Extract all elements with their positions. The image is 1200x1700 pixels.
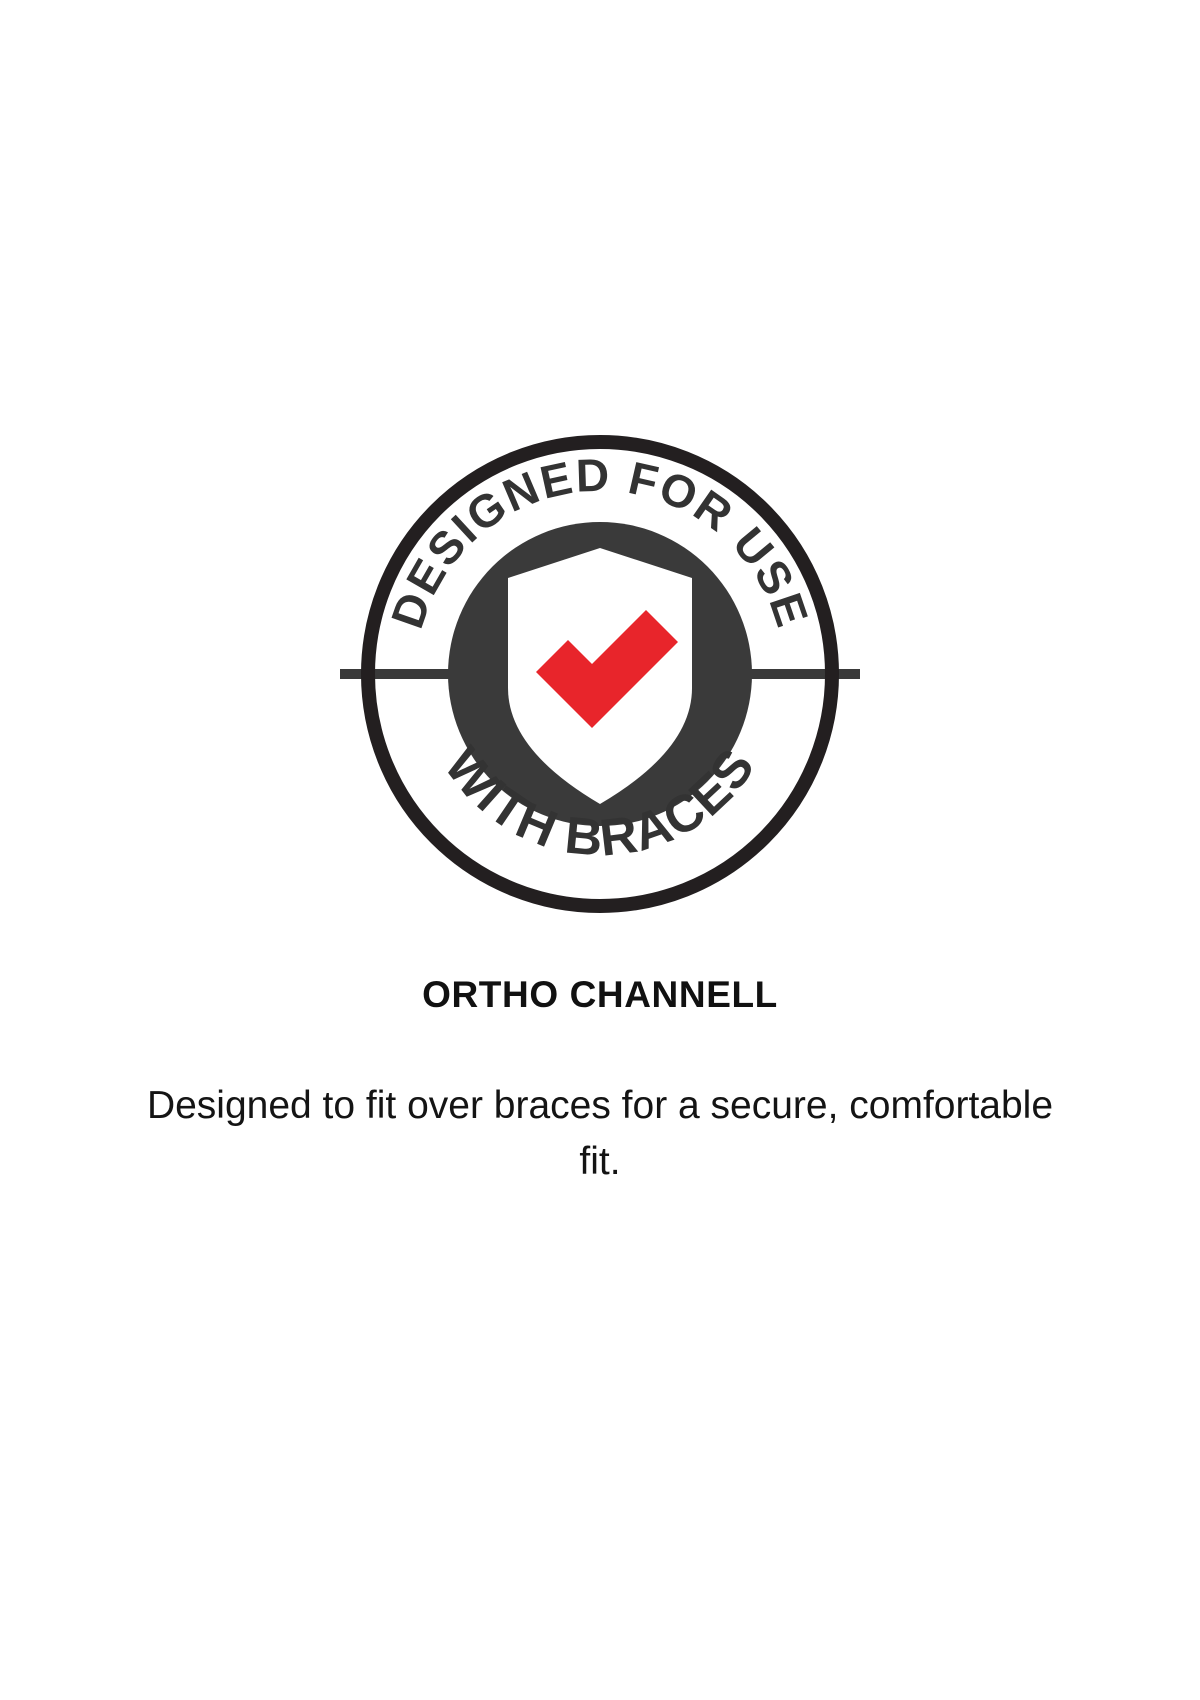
product-feature-card: DESIGNED FOR USE WITH BRACES ORTHO CHANN… — [0, 0, 1200, 1700]
feature-text-block: ORTHO CHANNELL Designed to fit over brac… — [0, 975, 1200, 1191]
shield-check-badge: DESIGNED FOR USE WITH BRACES — [340, 420, 860, 930]
feature-description: Designed to fit over braces for a secure… — [135, 1016, 1065, 1191]
page-title: ORTHO CHANNELL — [0, 975, 1200, 1016]
badge-container: DESIGNED FOR USE WITH BRACES — [0, 420, 1200, 930]
